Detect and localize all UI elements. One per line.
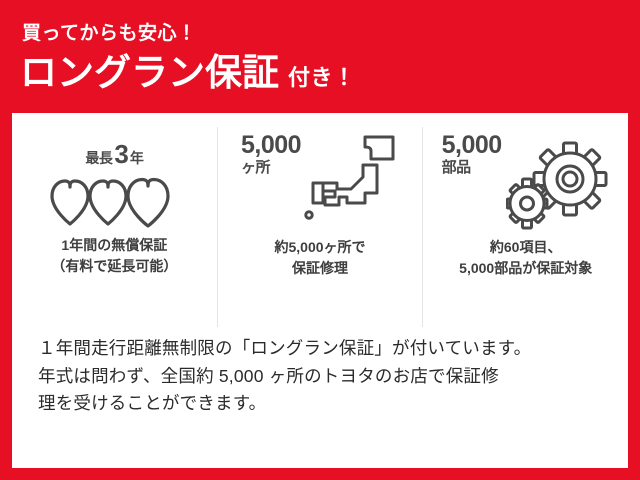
body-line: 年式は問わず、全国約 5,000 ヶ所のトヨタのお店で保証修 — [38, 363, 608, 391]
feature-column-service-locations: 5,000 ヶ所 — [217, 127, 423, 327]
stat-warranty-term: 最長 3 年 — [85, 139, 143, 170]
header-banner: 買ってからも安心！ ロングラン保証 付き！ — [0, 0, 640, 113]
feature-caption-covered-parts: 約60項目、 5,000部品が保証対象 — [459, 237, 592, 279]
stat-unit-label: ヶ所 — [241, 160, 270, 175]
caption-line: 約5,000ヶ所で — [274, 237, 365, 258]
feature-visual-covered-parts: 5,000 部品 — [442, 127, 610, 237]
feature-visual-warranty-term: 最長 3 年 — [48, 127, 180, 235]
stat-value-label: 5,000 — [241, 133, 301, 159]
three-hearts-icon — [48, 170, 180, 235]
japan-map-icon — [303, 131, 399, 236]
caption-line: （有料で延長可能） — [51, 256, 177, 277]
feature-caption-warranty-term: 1年間の無償保証 （有料で延長可能） — [51, 235, 177, 277]
header-headline-row: ロングラン保証 付き！ — [20, 54, 356, 91]
stat-value-label: 5,000 — [442, 133, 502, 159]
advertisement-root: 買ってからも安心！ ロングラン保証 付き！ 最長 3 年 — [0, 0, 640, 480]
feature-caption-service-locations: 約5,000ヶ所で 保証修理 — [274, 237, 365, 279]
stat-service-locations: 5,000 ヶ所 — [241, 133, 301, 175]
stat-covered-parts: 5,000 部品 — [442, 133, 502, 175]
stat-prefix-label: 最長 — [85, 148, 112, 168]
feature-column-covered-parts: 5,000 部品 — [422, 127, 628, 327]
header-eyebrow-text: 買ってからも安心！ — [22, 24, 197, 43]
caption-line: 保証修理 — [274, 258, 365, 279]
stat-suffix-label: 年 — [130, 148, 144, 168]
header-headline-text: ロングラン保証 — [20, 54, 279, 91]
stat-value-label: 3 — [114, 139, 128, 170]
stat-unit-label: 部品 — [442, 160, 471, 175]
header-headline-suffix-text: 付き！ — [288, 67, 356, 89]
caption-line: 5,000部品が保証対象 — [459, 258, 592, 279]
feature-columns: 最長 3 年 1年間の無償保証 （有料で延長可能） — [12, 127, 628, 327]
body-line: １年間走行距離無制限の「ロングラン保証」が付いています。 — [38, 335, 608, 363]
body-description: １年間走行距離無制限の「ロングラン保証」が付いています。 年式は問わず、全国約 … — [38, 335, 608, 418]
content-panel: 最長 3 年 1年間の無償保証 （有料で延長可能） — [12, 113, 628, 468]
caption-line: 1年間の無償保証 — [51, 235, 177, 256]
feature-column-warranty-term: 最長 3 年 1年間の無償保証 （有料で延長可能） — [12, 127, 217, 327]
caption-line: 約60項目、 — [459, 237, 592, 258]
body-line: 理を受けることができます。 — [38, 390, 608, 418]
feature-visual-service-locations: 5,000 ヶ所 — [241, 127, 399, 237]
gears-icon — [506, 141, 610, 238]
